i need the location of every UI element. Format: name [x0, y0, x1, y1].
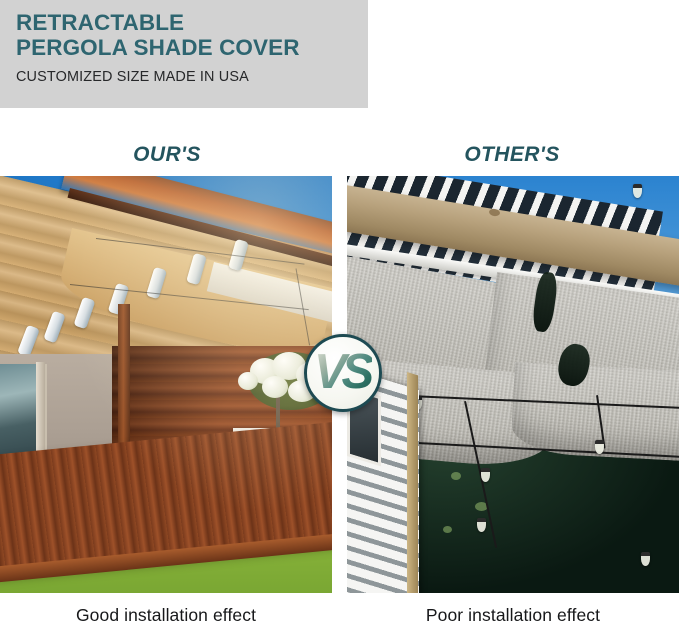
banner-title: RETRACTABLE PERGOLA SHADE COVER: [16, 11, 368, 60]
white-blossom: [262, 376, 288, 398]
caption-poor-installation: Poor installation effect: [347, 601, 679, 629]
string-light-bulb: [641, 552, 650, 566]
shutter-side-post: [407, 372, 418, 593]
column-heading-ours: OUR'S: [0, 140, 334, 170]
column-heading-others: OTHER'S: [345, 140, 679, 170]
photo-poor-installation: [347, 176, 679, 593]
foliage-highlight: [451, 472, 461, 480]
string-light-bulb: [481, 468, 490, 482]
versus-label: VS: [314, 348, 372, 397]
string-light-bulb: [633, 184, 642, 198]
header-banner: RETRACTABLE PERGOLA SHADE COVER CUSTOMIZ…: [0, 0, 368, 108]
white-blossom: [238, 372, 258, 390]
foliage-highlight: [443, 526, 452, 533]
product-comparison-infographic: RETRACTABLE PERGOLA SHADE COVER CUSTOMIZ…: [0, 0, 679, 635]
string-light-bulb: [477, 518, 486, 532]
caption-good-installation: Good installation effect: [0, 601, 332, 629]
banner-subtitle: CUSTOMIZED SIZE MADE IN USA: [16, 68, 350, 86]
string-light-bulb: [595, 440, 604, 454]
versus-badge: VS: [304, 334, 382, 412]
photo-good-installation: [0, 176, 332, 593]
